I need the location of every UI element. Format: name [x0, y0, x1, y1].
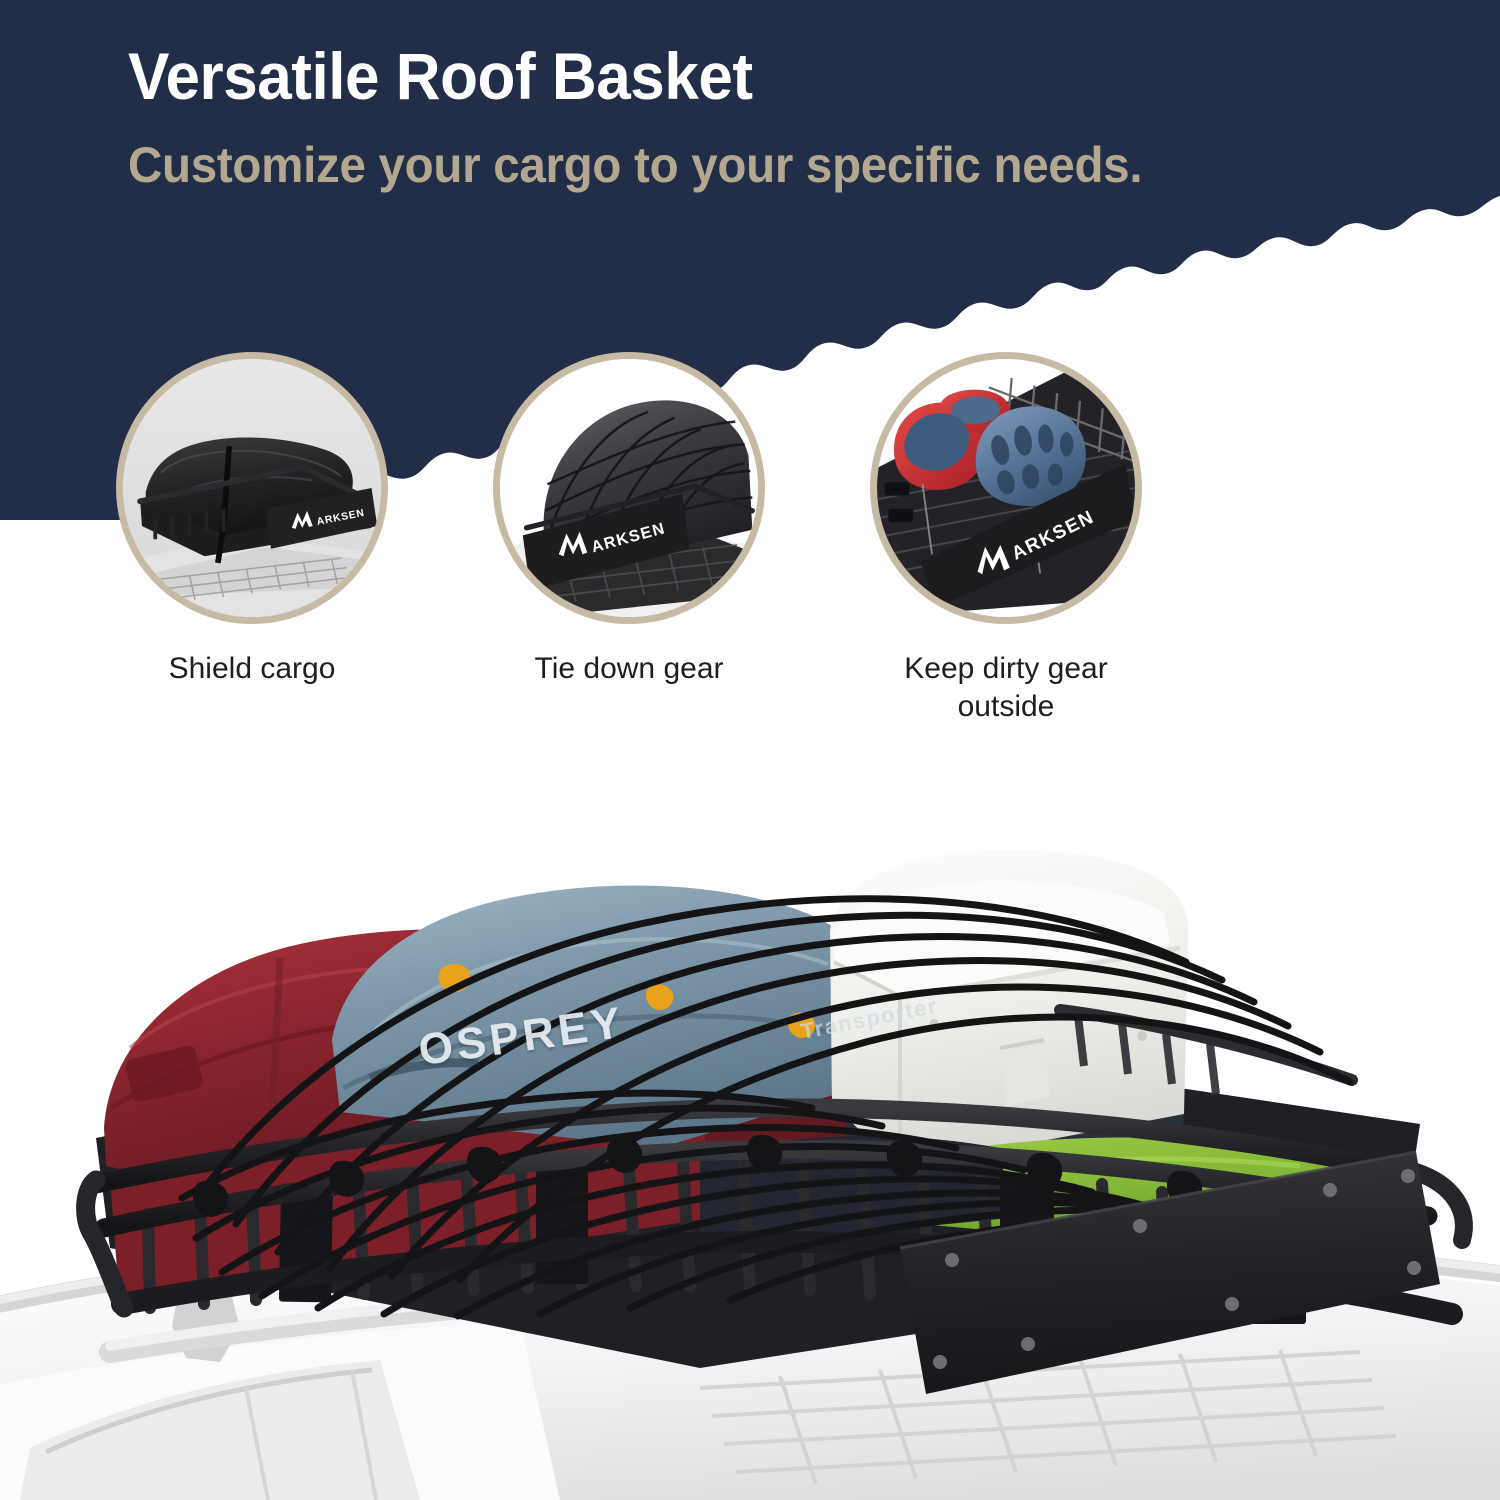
page-subtitle: Customize your cargo to your specific ne… [128, 137, 1211, 193]
feature-thumbnails-row: ARKSEN Shield cargo [0, 352, 1500, 752]
feature-caption-tie-down-gear: Tie down gear [439, 650, 819, 688]
product-marketing-image: Versatile Roof Basket Customize your car… [0, 0, 1500, 1500]
feature-item-tie-down-gear[interactable]: ARKSEN Tie down gear [439, 352, 819, 688]
feature-caption-shield-cargo: Shield cargo [62, 650, 442, 688]
feature-item-keep-dirty-gear-outside[interactable]: ARKSEN Keep dirty gear outside [816, 352, 1196, 727]
feature-caption-keep-dirty-gear: Keep dirty gear outside [816, 650, 1196, 727]
main-product-image: . [0, 748, 1500, 1500]
feature-item-shield-cargo[interactable]: ARKSEN Shield cargo [62, 352, 442, 688]
feature-thumbnail-tie-down-gear[interactable]: ARKSEN [493, 352, 765, 624]
feature-thumbnail-shield-cargo[interactable]: ARKSEN [116, 352, 388, 624]
feature-thumbnail-keep-dirty-gear[interactable]: ARKSEN [870, 352, 1142, 624]
page-title: Versatile Roof Basket [128, 42, 1237, 111]
header-text-block: Versatile Roof Basket Customize your car… [128, 42, 1308, 193]
